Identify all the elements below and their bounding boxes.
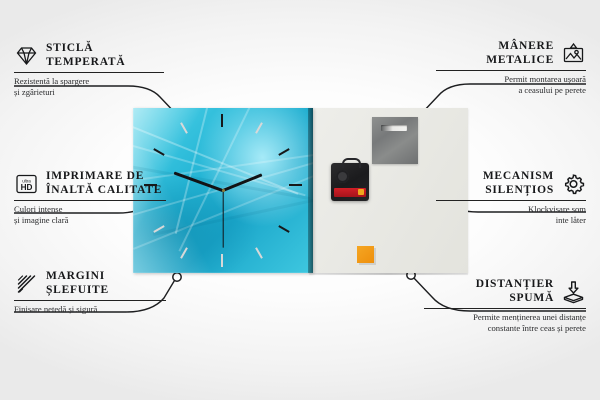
hanger-slot: [381, 125, 407, 131]
hand-pin: [222, 189, 225, 192]
feature-metal-handles: MÂNERE METALICE Permit montarea ușoară a…: [436, 40, 586, 95]
divider: [436, 70, 586, 71]
feature-subtitle: Finisare netedă și sigură: [14, 304, 166, 315]
feature-title: MECANISM SILENȚIOS: [483, 170, 554, 197]
feature-title: MARGINI ȘLEFUITE: [46, 270, 109, 297]
battery: [334, 188, 366, 197]
feature-title: MÂNERE METALICE: [486, 40, 554, 67]
feature-tempered-glass: STICLĂ TEMPERATĂ Rezistentă la spargere …: [14, 42, 164, 97]
polished-edges-icon: [14, 272, 39, 296]
quartz-mechanism-part: [331, 163, 369, 201]
divider: [14, 72, 164, 73]
feature-subtitle: Permite menținerea unei distanțe constan…: [424, 312, 586, 333]
mechanism-loop: [342, 158, 361, 168]
feature-title: STICLĂ TEMPERATĂ: [46, 42, 125, 69]
anchor-dot-polished-edges: [173, 273, 181, 281]
divider: [436, 200, 586, 201]
feature-subtitle: Klockvisare som inte låter: [436, 204, 586, 225]
feature-foam-spacer: DISTANȚIER SPUMĂ Permite menținerea unei…: [424, 278, 586, 333]
feature-subtitle: Culori intense și imagine clară: [14, 204, 166, 225]
feature-subtitle: Permit montarea ușoară a ceasului pe per…: [436, 74, 586, 95]
foam-spacer-part: [357, 246, 374, 263]
product-image: [133, 108, 468, 273]
glass-edge: [308, 108, 313, 273]
ultra-hd-icon: ultra HD: [14, 172, 39, 196]
second-hand: [222, 191, 223, 248]
gear-icon: [561, 172, 586, 196]
feature-high-quality-print: ultra HD IMPRIMARE DE ÎNALTĂ CALITATE Cu…: [14, 170, 166, 225]
svg-text:HD: HD: [21, 183, 33, 192]
press-down-pad-icon: [561, 280, 586, 304]
infographic-canvas: STICLĂ TEMPERATĂ Rezistentă la spargere …: [0, 0, 600, 400]
hanging-frame-icon: [561, 42, 586, 66]
feature-title: IMPRIMARE DE ÎNALTĂ CALITATE: [46, 170, 162, 197]
feature-subtitle: Rezistentă la spargere și zgârieturi: [14, 76, 164, 97]
divider: [14, 200, 166, 201]
feature-title: DISTANȚIER SPUMĂ: [476, 278, 554, 305]
mechanism-dial: [336, 170, 349, 183]
feature-silent-mechanism: MECANISM SILENȚIOS Klockvisare som inte …: [436, 170, 586, 225]
metal-hanger-part: [372, 117, 418, 164]
divider: [424, 308, 586, 309]
diamond-icon: [14, 44, 39, 68]
feature-polished-edges: MARGINI ȘLEFUITE Finisare netedă și sigu…: [14, 270, 166, 315]
divider: [14, 300, 166, 301]
